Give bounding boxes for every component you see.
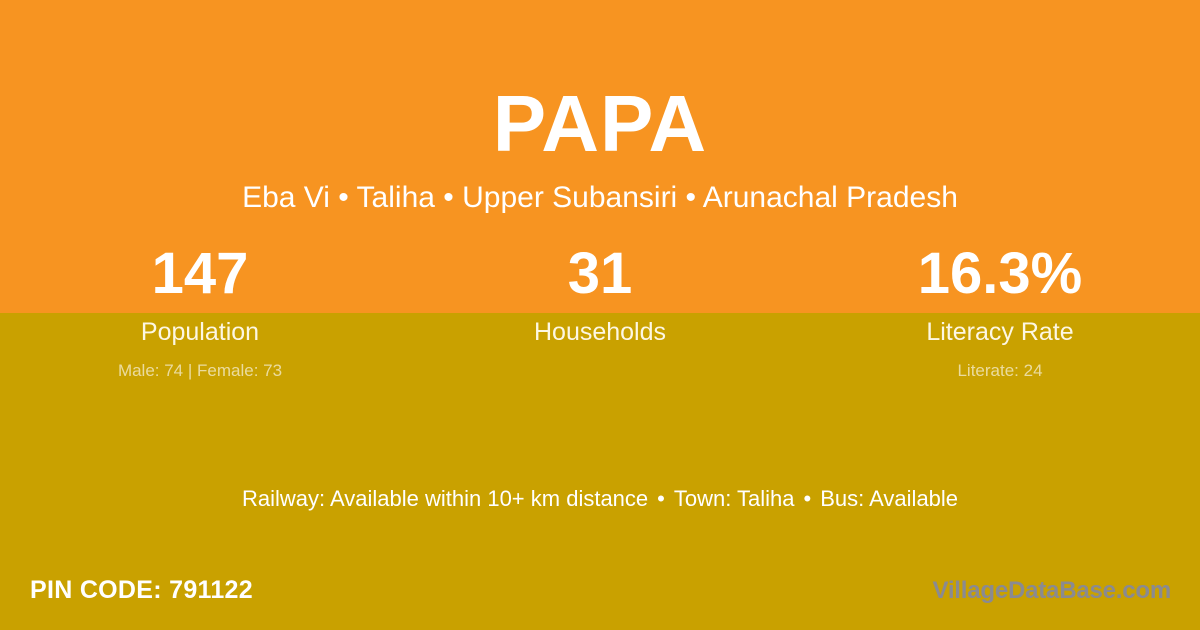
page-title: PAPA: [0, 0, 1200, 166]
stat-households: 31 Households: [400, 243, 800, 382]
amenity-bus: Bus: Available: [820, 486, 958, 511]
stat-value-literacy-rate: 16.3%: [800, 243, 1200, 313]
stat-population: 147 Population Male: 74 | Female: 73: [0, 243, 400, 382]
title-block: PAPA Eba Vi • Taliha • Upper Subansiri •…: [0, 0, 1200, 215]
amenity-town: Town: Taliha: [674, 486, 795, 511]
stat-literacy-rate: 16.3% Literacy Rate Literate: 24: [800, 243, 1200, 382]
stat-label-households: Households: [400, 313, 800, 347]
site-watermark: VillageDataBase.com: [932, 576, 1171, 606]
stat-sub-households: [400, 347, 800, 382]
stat-value-households: 31: [400, 243, 800, 313]
breadcrumb: Eba Vi • Taliha • Upper Subansiri • Arun…: [0, 166, 1200, 215]
amenity-separator-1: •: [648, 486, 674, 511]
amenity-railway: Railway: Available within 10+ km distanc…: [242, 486, 648, 511]
stat-sub-population: Male: 74 | Female: 73: [0, 347, 400, 382]
pin-code: PIN CODE: 791122: [30, 574, 253, 606]
stat-label-population: Population: [0, 313, 400, 347]
stat-value-population: 147: [0, 243, 400, 313]
stats-row: 147 Population Male: 74 | Female: 73 31 …: [0, 243, 1200, 382]
amenities-line: Railway: Available within 10+ km distanc…: [0, 484, 1200, 514]
stat-label-literacy-rate: Literacy Rate: [800, 313, 1200, 347]
amenity-separator-2: •: [795, 486, 821, 511]
footer: PIN CODE: 791122 VillageDataBase.com: [0, 562, 1200, 630]
village-info-card: PAPA Eba Vi • Taliha • Upper Subansiri •…: [0, 0, 1200, 630]
stat-sub-literacy-rate: Literate: 24: [800, 347, 1200, 382]
